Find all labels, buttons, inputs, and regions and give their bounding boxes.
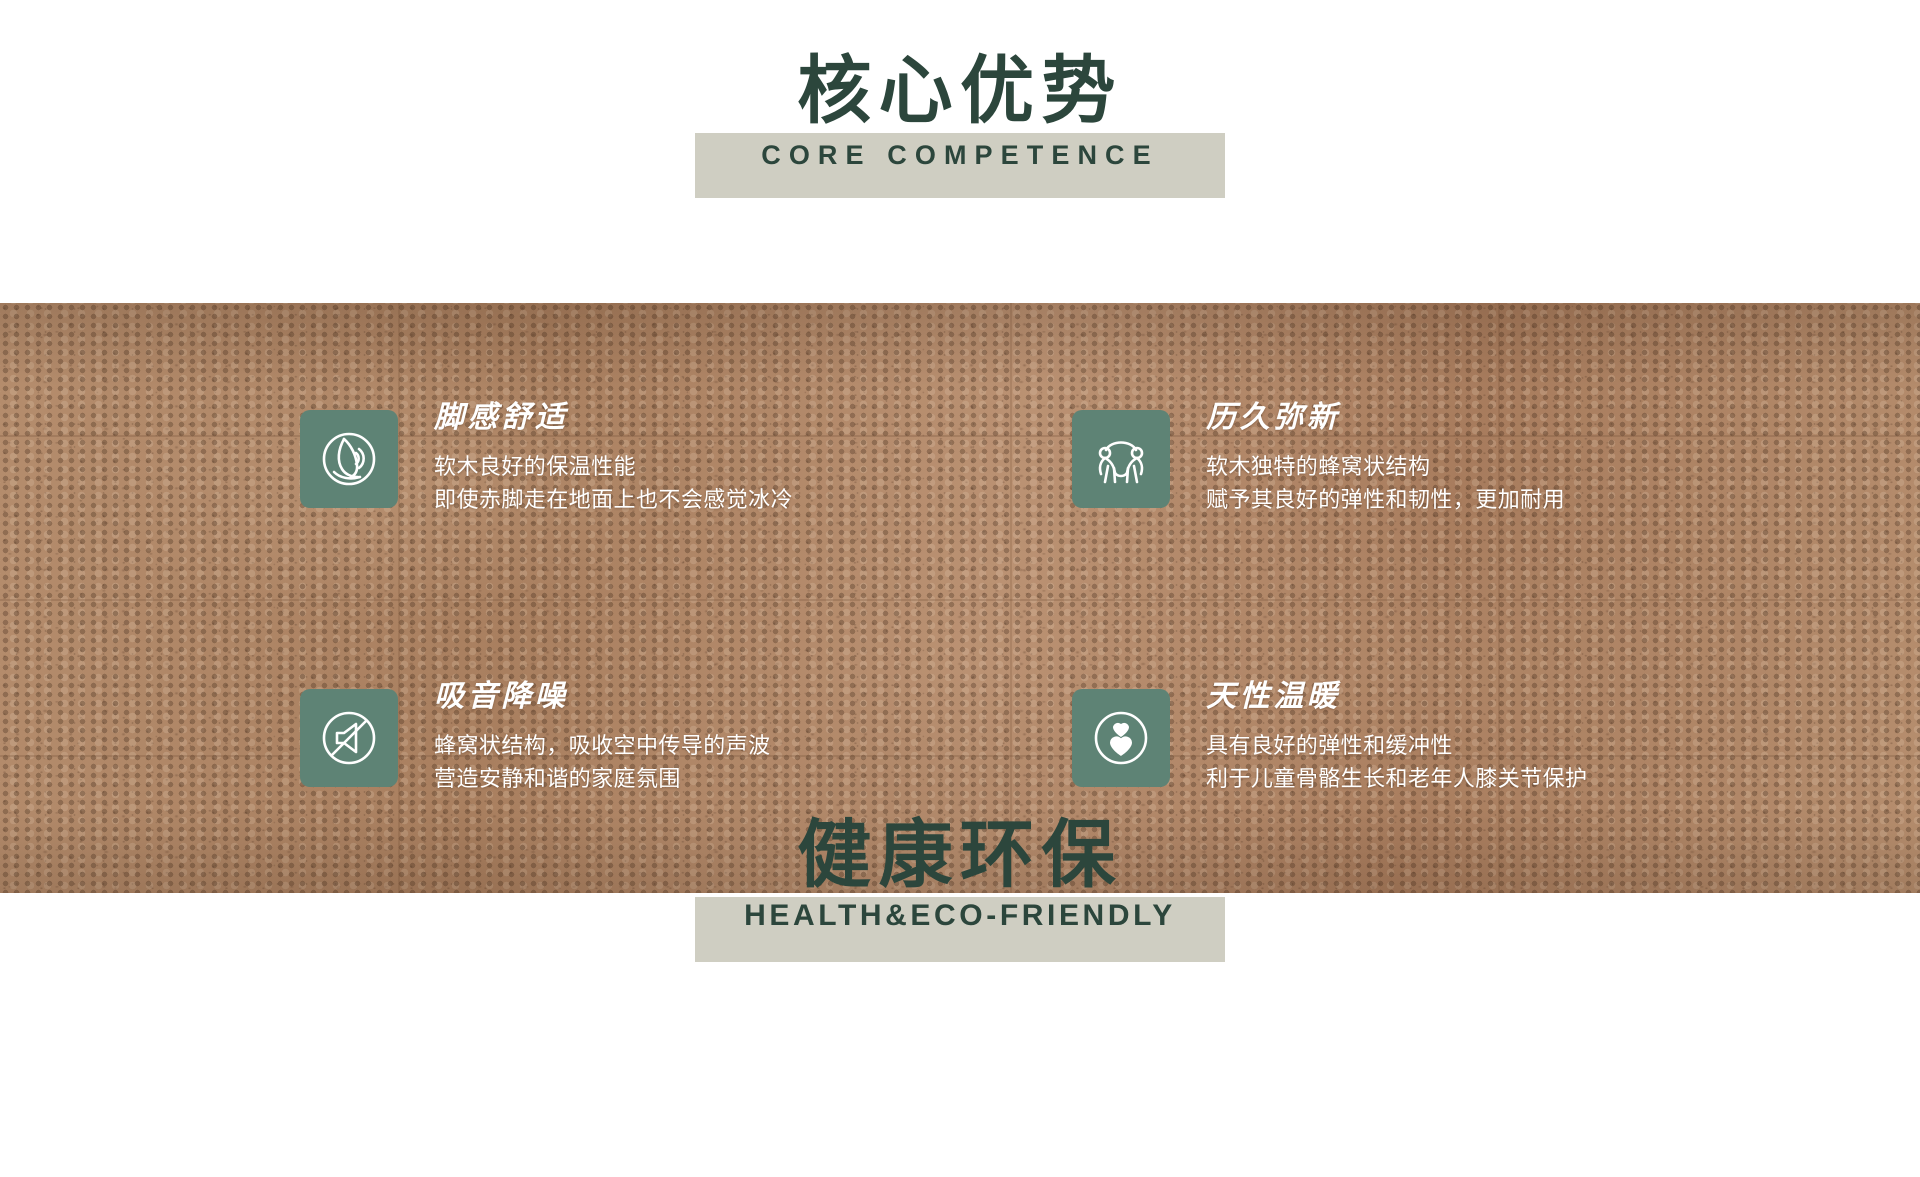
feature-text-block: 历久弥新 软木独特的蜂窝状结构 赋予其良好的弹性和韧性，更加耐用 xyxy=(1206,401,1565,516)
heading-subtitle-en-bottom: HEALTH&ECO-FRIENDLY xyxy=(744,898,1176,934)
feature-line: 利于儿童骨骼生长和老年人膝关节保护 xyxy=(1206,762,1587,795)
feature-title: 天性温暖 xyxy=(1206,680,1587,715)
feature-title: 吸音降噪 xyxy=(434,680,771,715)
feature-line: 即使赤脚走在地面上也不会感觉冰冷 xyxy=(434,483,793,516)
people-durable-icon xyxy=(1072,410,1170,508)
core-competence-heading: 核心优势 CORE COMPETENCE xyxy=(0,48,1920,172)
feature-text-block: 吸音降噪 蜂窝状结构，吸收空中传导的声波 营造安静和谐的家庭氛围 xyxy=(434,680,771,795)
mute-speaker-icon xyxy=(300,689,398,787)
hearts-warm-icon xyxy=(1072,689,1170,787)
features-banner: 脚感舒适 软木良好的保温性能 即使赤脚走在地面上也不会感觉冰冷 xyxy=(0,303,1920,893)
feature-line: 具有良好的弹性和缓冲性 xyxy=(1206,729,1587,762)
foot-comfort-icon xyxy=(300,410,398,508)
feature-line: 蜂窝状结构，吸收空中传导的声波 xyxy=(434,729,771,762)
heading-subtitle-en-top: CORE COMPETENCE xyxy=(761,138,1159,172)
health-eco-heading: 健康环保 HEALTH&ECO-FRIENDLY xyxy=(0,812,1920,934)
heading-title-cn-top: 核心优势 xyxy=(761,48,1159,134)
feature-text-block: 天性温暖 具有良好的弹性和缓冲性 利于儿童骨骼生长和老年人膝关节保护 xyxy=(1206,680,1587,795)
feature-line: 营造安静和谐的家庭氛围 xyxy=(434,762,771,795)
feature-text-block: 脚感舒适 软木良好的保温性能 即使赤脚走在地面上也不会感觉冰冷 xyxy=(434,401,793,516)
feature-title: 脚感舒适 xyxy=(434,401,793,436)
feature-card-foot-comfort[interactable]: 脚感舒适 软木良好的保温性能 即使赤脚走在地面上也不会感觉冰冷 xyxy=(0,303,960,598)
feature-title: 历久弥新 xyxy=(1206,401,1565,436)
feature-card-durability[interactable]: 历久弥新 软木独特的蜂窝状结构 赋予其良好的弹性和韧性，更加耐用 xyxy=(960,303,1920,598)
feature-line: 赋予其良好的弹性和韧性，更加耐用 xyxy=(1206,483,1565,516)
feature-line: 软木独特的蜂窝状结构 xyxy=(1206,450,1565,483)
heading-title-cn-bottom: 健康环保 xyxy=(744,812,1176,898)
feature-line: 软木良好的保温性能 xyxy=(434,450,793,483)
feature-grid: 脚感舒适 软木良好的保温性能 即使赤脚走在地面上也不会感觉冰冷 xyxy=(0,303,1920,893)
